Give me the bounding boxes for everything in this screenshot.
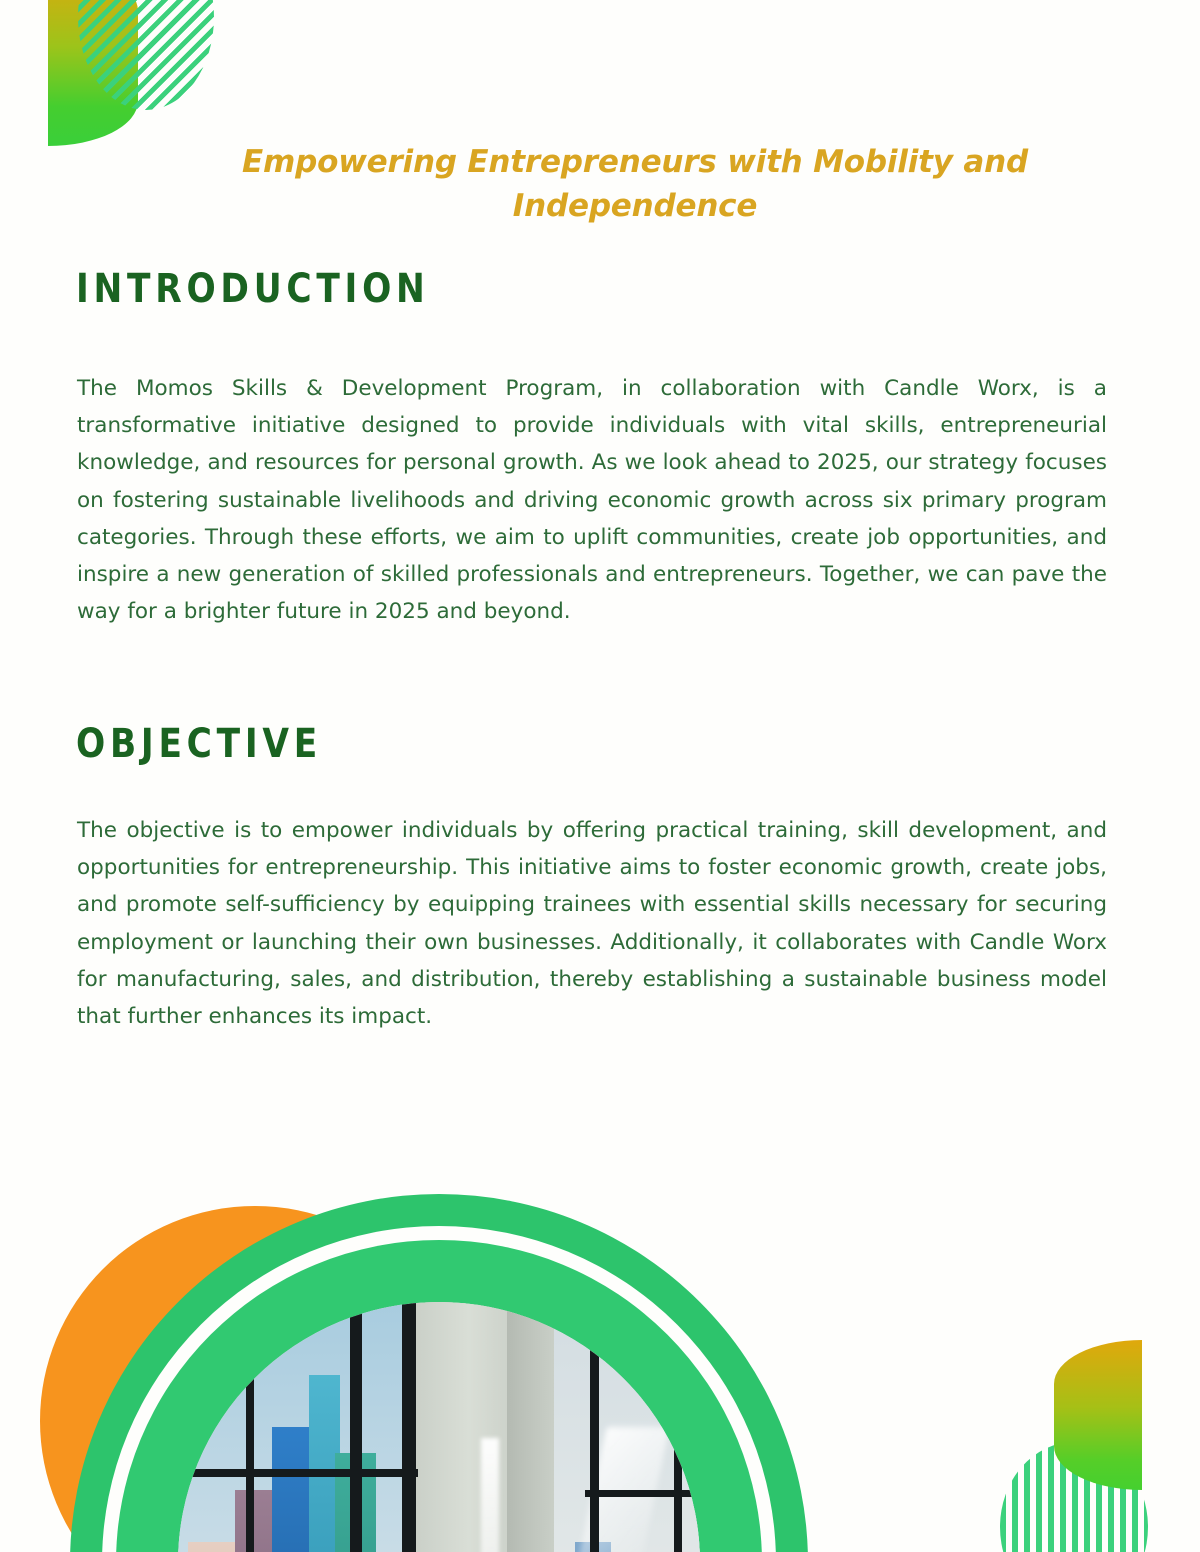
interior-wall-middle — [408, 1302, 544, 1552]
document-page: Empowering Entrepreneurs with Mobility a… — [0, 0, 1200, 1552]
sky-left — [178, 1302, 418, 1552]
interior-wall-right — [554, 1302, 700, 1552]
green-outer-ring-shape — [70, 1194, 808, 1552]
building — [575, 1542, 612, 1552]
window-mullion — [585, 1490, 700, 1497]
diagonal-striped-circle-icon — [78, 0, 214, 110]
hero-image-composition — [40, 1158, 830, 1552]
vertical-striped-circle-icon — [1000, 1442, 1148, 1552]
page-title: Empowering Entrepreneurs with Mobility a… — [240, 140, 1030, 228]
sky-right — [554, 1302, 700, 1552]
window-mullion — [402, 1302, 415, 1552]
window-reflection-glow — [574, 1427, 670, 1552]
photo-scene — [178, 1302, 700, 1552]
green-inner-ring-shape — [116, 1240, 762, 1552]
window-mullion — [590, 1333, 598, 1552]
ring-gap-shape — [102, 1226, 776, 1552]
section-body-introduction: The Momos Skills & Development Program, … — [77, 370, 1107, 630]
section-body-objective: The objective is to empower individuals … — [77, 812, 1107, 1035]
laboratory-photo — [178, 1302, 700, 1552]
section-heading-introduction: INTRODUCTION — [76, 266, 430, 312]
window-mullion — [246, 1302, 254, 1552]
building — [188, 1542, 235, 1552]
orange-arc-shape — [40, 1206, 470, 1552]
section-heading-objective: OBJECTIVE — [76, 721, 322, 767]
window-mullion — [674, 1375, 682, 1552]
light-fixture-glow — [481, 1438, 499, 1552]
window-mullion — [178, 1469, 418, 1477]
interior-column — [507, 1302, 559, 1552]
building — [272, 1427, 314, 1552]
building — [335, 1453, 377, 1552]
building — [235, 1490, 272, 1552]
window-mullion — [350, 1302, 361, 1552]
half-circle-gradient-icon — [1054, 1340, 1142, 1490]
bottom-right-decoration — [1000, 1342, 1200, 1552]
building — [309, 1375, 340, 1552]
half-circle-gradient-icon — [48, 0, 138, 146]
